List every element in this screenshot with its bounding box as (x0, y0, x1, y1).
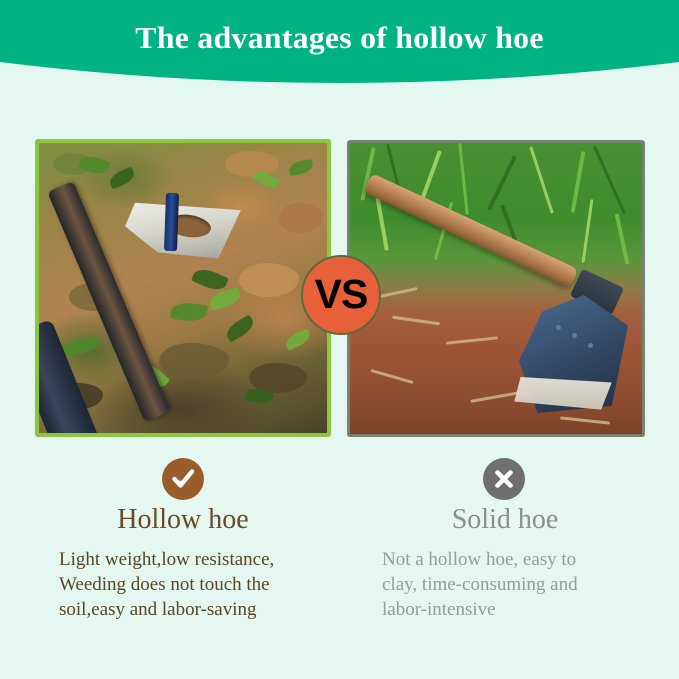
solid-hoe-description: Not a hollow hoe, easy to clay, time-con… (345, 547, 665, 622)
hollow-hoe-description: Light weight,low resistance, Weeding doe… (23, 547, 343, 622)
blade-rivet (556, 325, 561, 330)
blade-rivet (572, 333, 577, 338)
hollow-hoe-photo (39, 143, 327, 433)
infographic-page: The advantages of hollow hoe (0, 0, 679, 679)
page-title: The advantages of hollow hoe (0, 20, 679, 56)
blade-rivet (588, 343, 593, 348)
solid-hoe-heading: Solid hoe (345, 503, 665, 537)
check-icon (162, 458, 204, 500)
hollow-hoe-photo-frame (35, 139, 331, 437)
solid-hoe-photo (350, 143, 642, 434)
hollow-hoe-neck (164, 193, 179, 251)
hollow-hoe-heading: Hollow hoe (23, 503, 343, 537)
solid-hoe-photo-frame (347, 140, 645, 437)
vs-badge: VS (301, 255, 381, 335)
cross-icon (483, 458, 525, 500)
hollow-hoe-column: Hollow hoe Light weight,low resistance, … (23, 503, 343, 622)
solid-hoe-column: Solid hoe Not a hollow hoe, easy to clay… (345, 503, 665, 622)
vs-label: VS (315, 274, 368, 315)
